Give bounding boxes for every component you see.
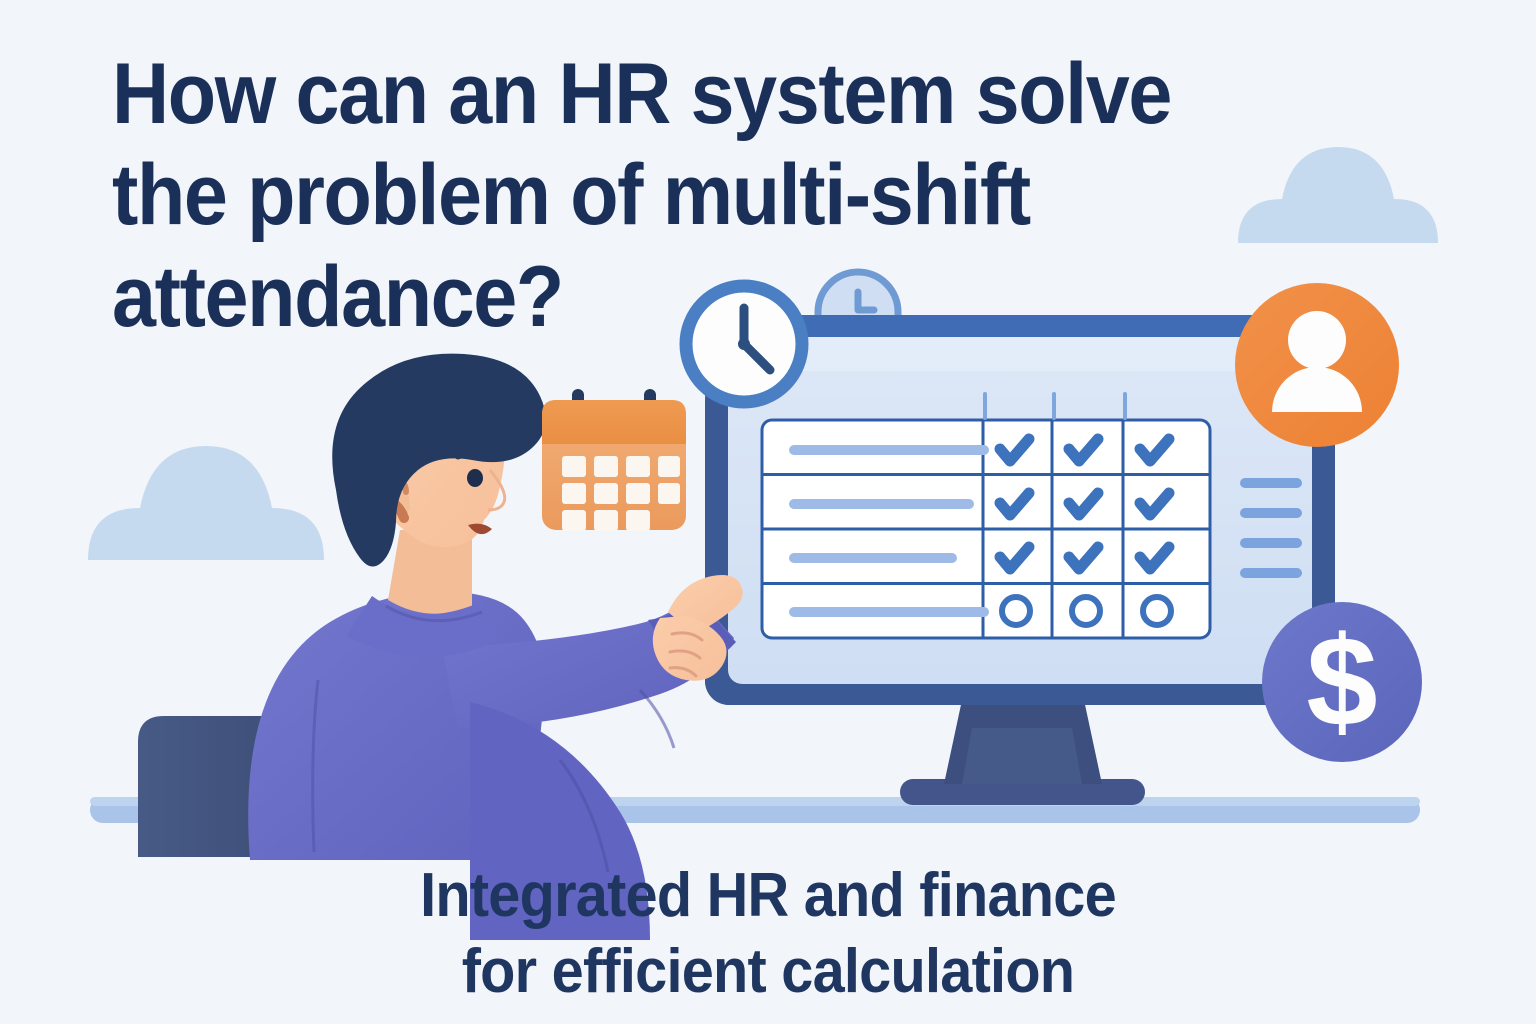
- list-item: [1240, 568, 1302, 578]
- clock-icon: [686, 286, 802, 402]
- list-item: [1240, 478, 1302, 488]
- table-row: [789, 445, 989, 455]
- screen-toolbar: [728, 337, 1312, 371]
- scene-vector-layer: $: [0, 0, 1536, 1024]
- person-eye: [467, 469, 483, 487]
- table-row: [789, 553, 957, 563]
- illustration-canvas: $ How can an HR system solve the problem…: [0, 0, 1536, 1024]
- list-item: [1240, 538, 1302, 548]
- svg-text:$: $: [1306, 611, 1377, 754]
- user-avatar-icon: [1235, 283, 1399, 447]
- table-row: [789, 499, 974, 509]
- dollar-coin-icon: $: [1262, 602, 1422, 762]
- calendar-icon: [542, 389, 686, 531]
- table-row: [789, 607, 989, 617]
- list-item: [1240, 508, 1302, 518]
